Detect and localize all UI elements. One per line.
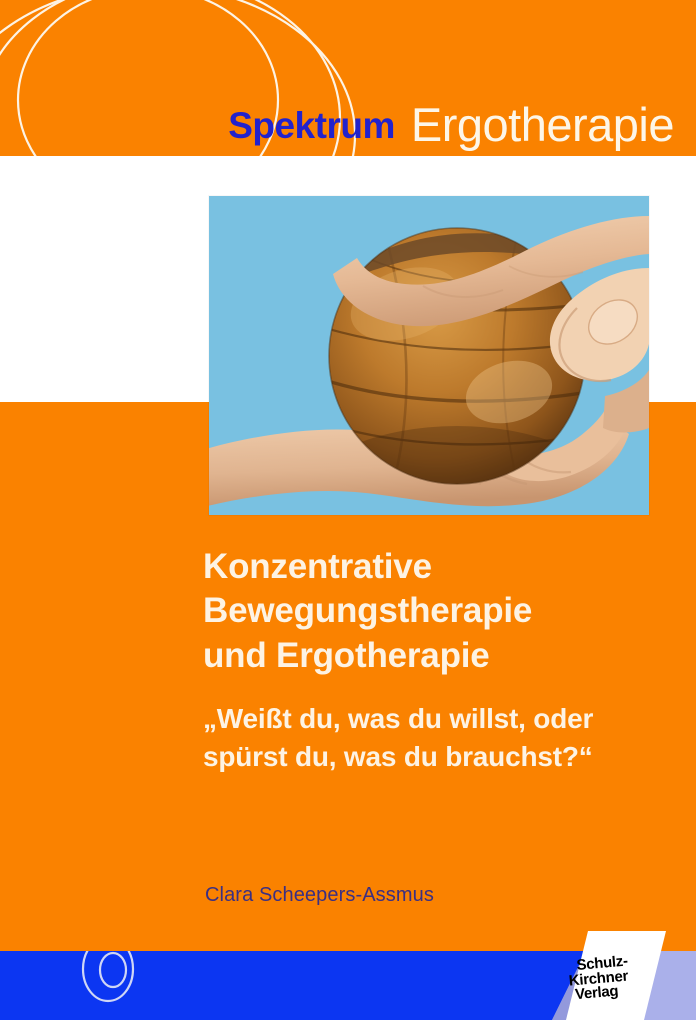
book-title-line: und Ergotherapie (203, 634, 673, 678)
series-title: Spektrum Ergotherapie (0, 0, 696, 156)
author-name: Clara Scheepers-Assmus (205, 884, 434, 907)
book-title-line: Bewegungstherapie (203, 589, 673, 633)
book-title: Konzentrative Bewegungstherapie und Ergo… (203, 545, 673, 678)
title-block: Konzentrative Bewegungstherapie und Ergo… (203, 545, 673, 775)
book-title-line: Konzentrative (203, 545, 673, 589)
book-cover: Spektrum Ergotherapie (0, 0, 696, 1020)
book-subtitle: „Weißt du, was du willst, oder spürst du… (203, 700, 673, 774)
series-discipline-text: Ergotherapie (411, 101, 674, 148)
publisher-logo-text: Schulz- Kirchner Verlag (576, 950, 683, 1003)
book-subtitle-line: spürst du, was du brauchst?“ (203, 738, 673, 775)
header-band: Spektrum Ergotherapie (0, 0, 696, 156)
series-name-text: Spektrum (228, 107, 395, 144)
book-subtitle-line: „Weißt du, was du willst, oder (203, 700, 673, 737)
cover-photo (209, 196, 649, 515)
publisher-logo: Schulz- Kirchner Verlag (556, 931, 696, 1020)
